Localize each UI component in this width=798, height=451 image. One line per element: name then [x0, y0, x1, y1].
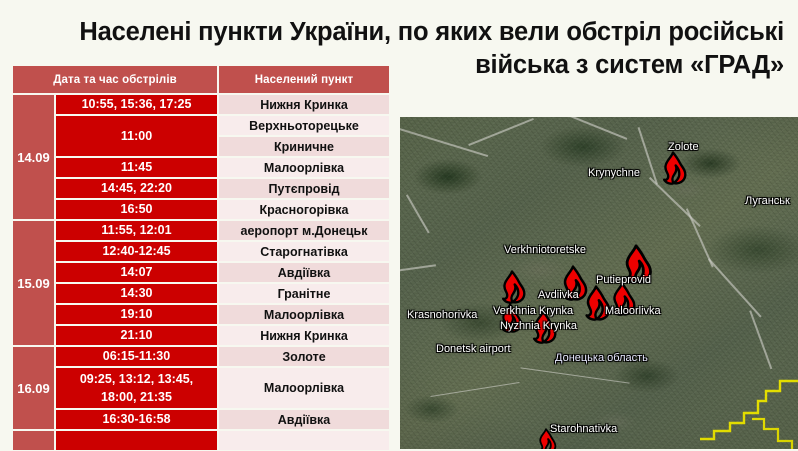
map-label: Krynychne	[588, 167, 640, 179]
place-cell: Криничне	[218, 136, 390, 157]
place-cell: Малоорлівка	[218, 304, 390, 325]
place-cell: аеропорт м.Донецьк	[218, 220, 390, 241]
place-cell: Нижня Кринка	[218, 325, 390, 346]
time-cell: 12:40-12:45	[55, 241, 218, 262]
map-label: Avdiivka	[538, 289, 579, 301]
table-row: 11:00 Верхньоторецьке	[12, 115, 390, 136]
date-cell-partial	[12, 430, 55, 451]
satellite-map[interactable]: ZoloteKrynychneЛуганськVerkhniotoretskeP…	[400, 117, 798, 449]
map-label: Донецька область	[555, 352, 648, 364]
table-row: 14:07 Авдіївка	[12, 262, 390, 283]
table-row: 09:25, 13:12, 13:45, 18:00, 21:35 Малоор…	[12, 367, 390, 409]
map-label: Verkhniotoretske	[504, 244, 586, 256]
place-cell: Малоорлівка	[218, 367, 390, 409]
time-cell-partial	[55, 430, 218, 451]
fire-marker-icon	[656, 151, 690, 187]
map-label: Starohnativka	[550, 423, 617, 435]
time-line1: 09:25, 13:12, 13:45,	[80, 372, 193, 386]
place-cell: Малоорлівка	[218, 157, 390, 178]
place-cell: Путєпровід	[218, 178, 390, 199]
map-label: Nyzhnia Krynka	[500, 320, 577, 332]
time-cell-multiline: 09:25, 13:12, 13:45, 18:00, 21:35	[55, 367, 218, 409]
time-line2: 18:00, 21:35	[101, 390, 172, 404]
table-row-partial	[12, 430, 390, 451]
table-row: 14.09 10:55, 15:36, 17:25 Нижня Кринка	[12, 94, 390, 115]
slide-root: Населені пункти України, по яких вели об…	[0, 0, 798, 449]
table-row: 19:10 Малоорлівка	[12, 304, 390, 325]
map-label: Putieprovid	[596, 274, 651, 286]
place-cell-partial	[218, 430, 390, 451]
time-cell: 14:45, 22:20	[55, 178, 218, 199]
place-cell: Красногорівка	[218, 199, 390, 220]
shelling-table: Дата та час обстрілів Населений пункт 14…	[12, 65, 390, 451]
time-cell: 06:15-11:30	[55, 346, 218, 367]
date-cell-1409: 14.09	[12, 94, 55, 220]
place-cell: Нижня Кринка	[218, 94, 390, 115]
table-row: 14:45, 22:20 Путєпровід	[12, 178, 390, 199]
map-label: Zolote	[668, 141, 699, 153]
map-label: Donetsk airport	[436, 343, 511, 355]
table-row: 16:50 Красногорівка	[12, 199, 390, 220]
map-label: Verkhnia Krynka	[493, 305, 573, 317]
time-cell: 16:50	[55, 199, 218, 220]
table-row: 16:30-16:58 Авдіївка	[12, 409, 390, 430]
map-label: Krasnohorivka	[407, 309, 477, 321]
map-label: Луганськ	[745, 195, 790, 207]
place-cell: Авдіївка	[218, 409, 390, 430]
date-cell-1609: 16.09	[12, 346, 55, 430]
table-header-row: Дата та час обстрілів Населений пункт	[12, 65, 390, 94]
time-cell: 11:45	[55, 157, 218, 178]
time-cell: 14:07	[55, 262, 218, 283]
page-title-line1: Населені пункти України, по яких вели об…	[14, 16, 784, 49]
place-cell: Золоте	[218, 346, 390, 367]
table-row: 14:30 Гранітне	[12, 283, 390, 304]
fire-marker-icon	[495, 270, 529, 306]
table-row: 16.09 06:15-11:30 Золоте	[12, 346, 390, 367]
time-cell-merged: 11:00	[55, 115, 218, 157]
time-cell: 16:30-16:58	[55, 409, 218, 430]
time-cell: 19:10	[55, 304, 218, 325]
map-label: Maloorlivka	[605, 305, 661, 317]
place-cell: Авдіївка	[218, 262, 390, 283]
table-row: 15.09 11:55, 12:01 аеропорт м.Донецьк	[12, 220, 390, 241]
header-datetime: Дата та час обстрілів	[12, 65, 218, 94]
place-cell: Гранітне	[218, 283, 390, 304]
time-cell: 14:30	[55, 283, 218, 304]
time-cell: 11:55, 12:01	[55, 220, 218, 241]
table-row: 12:40-12:45 Старогнатівка	[12, 241, 390, 262]
header-settlement: Населений пункт	[218, 65, 390, 94]
table-row: 21:10 Нижня Кринка	[12, 325, 390, 346]
table-row: 11:45 Малоорлівка	[12, 157, 390, 178]
place-cell: Верхньоторецьке	[218, 115, 390, 136]
place-cell: Старогнатівка	[218, 241, 390, 262]
time-cell: 10:55, 15:36, 17:25	[55, 94, 218, 115]
date-cell-1509: 15.09	[12, 220, 55, 346]
time-cell: 21:10	[55, 325, 218, 346]
